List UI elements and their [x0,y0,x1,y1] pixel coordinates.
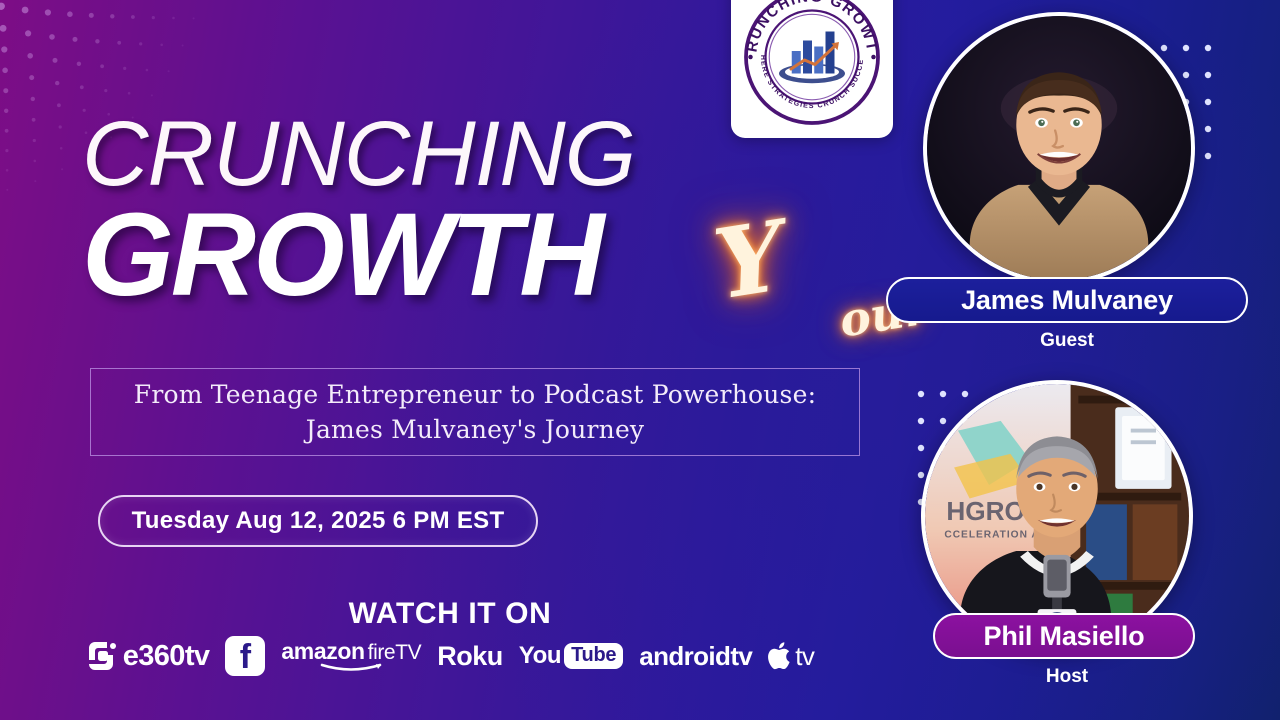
platform-amazon-firetv[interactable]: amazonfireTV [281,640,421,673]
host-photo: HGROWT CCELERATION AGENCY [925,384,1189,648]
name-pill-host: Phil Masiello [933,613,1195,659]
youtube-you-label: You [519,642,561,670]
appletv-label: tv [795,641,814,672]
facebook-f-label: f [240,642,251,673]
script-your-initial: Y [708,208,791,314]
episode-title: From Teenage Entrepreneur to Podcast Pow… [113,377,837,448]
schedule-pill: Tuesday Aug 12, 2025 6 PM EST [98,495,538,547]
platform-logo-row: e360tv f amazonfireTV Roku You Tube andr… [0,636,900,676]
platform-androidtv[interactable]: androidtv [639,641,752,672]
e360tv-icon [86,639,120,673]
apple-icon [768,641,794,671]
amazon-label: amazon [281,638,364,664]
show-title-block: CRUNCHING GROWTH Y our [80,108,880,328]
host-role: Host [886,666,1248,688]
platform-facebook[interactable]: f [225,636,265,676]
avatar-host: HGROWT CCELERATION AGENCY [921,380,1193,652]
title-line-growth: GROWTH [82,196,601,314]
youtube-tube-badge: Tube [564,643,623,669]
guest-role: Guest [886,330,1248,352]
watch-it-on-heading: WATCH IT ON [0,597,900,631]
platform-appletv[interactable]: tv [768,641,814,672]
e360tv-label: e360tv [123,640,210,673]
name-pill-guest: James Mulvaney [886,277,1248,323]
title-line-crunching: CRUNCHING [82,108,635,200]
avatar-guest [923,12,1195,284]
promo-graphic: CRUNCHING GROWTH WHERE STRATEGIES CRUNCH… [0,0,1280,720]
episode-title-box: From Teenage Entrepreneur to Podcast Pow… [90,368,860,456]
host-name: Phil Masiello [984,621,1145,652]
schedule-datetime: Tuesday Aug 12, 2025 6 PM EST [132,507,505,535]
androidtv-label: androidtv [639,641,752,672]
platform-youtube[interactable]: You Tube [519,642,623,670]
firetv-label: fireTV [368,641,422,664]
platform-roku[interactable]: Roku [437,641,503,672]
roku-label: Roku [437,641,503,672]
guest-photo [927,16,1191,280]
facebook-icon: f [225,636,265,676]
amazon-smile-icon [320,663,382,673]
guest-name: James Mulvaney [961,285,1173,316]
platform-e360tv[interactable]: e360tv [86,639,210,673]
